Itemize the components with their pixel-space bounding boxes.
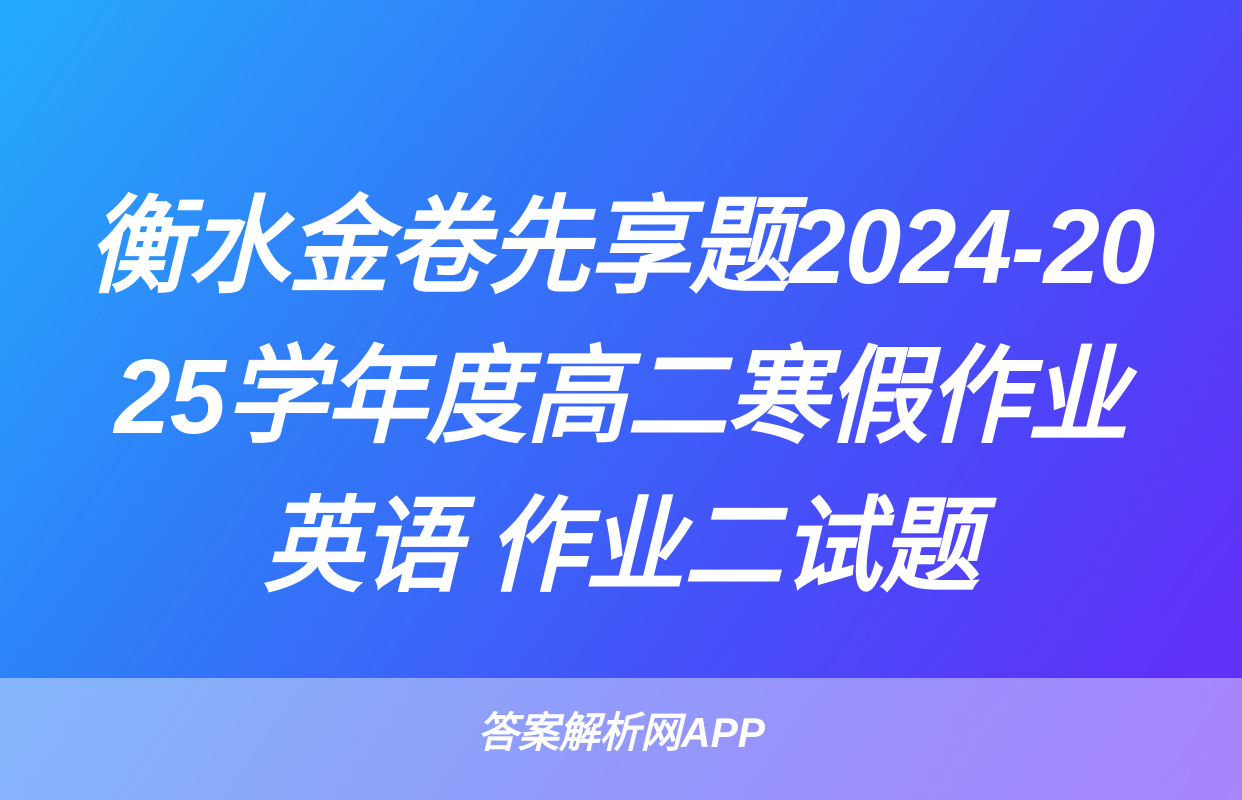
poster-cover: 衡水金卷先享题2024-20 25学年度高二寒假作业 英语 作业二试题 答案解析… <box>0 0 1242 800</box>
title-line-3: 英语 作业二试题 <box>41 472 1200 622</box>
title-line-1: 衡水金卷先享题2024-20 <box>41 172 1200 322</box>
watermark-label: 答案解析网APP <box>477 708 764 758</box>
title-line-2: 25学年度高二寒假作业 <box>41 322 1200 472</box>
footer-watermark: 答案解析网APP <box>0 708 1242 758</box>
cover-title: 衡水金卷先享题2024-20 25学年度高二寒假作业 英语 作业二试题 <box>0 172 1242 622</box>
